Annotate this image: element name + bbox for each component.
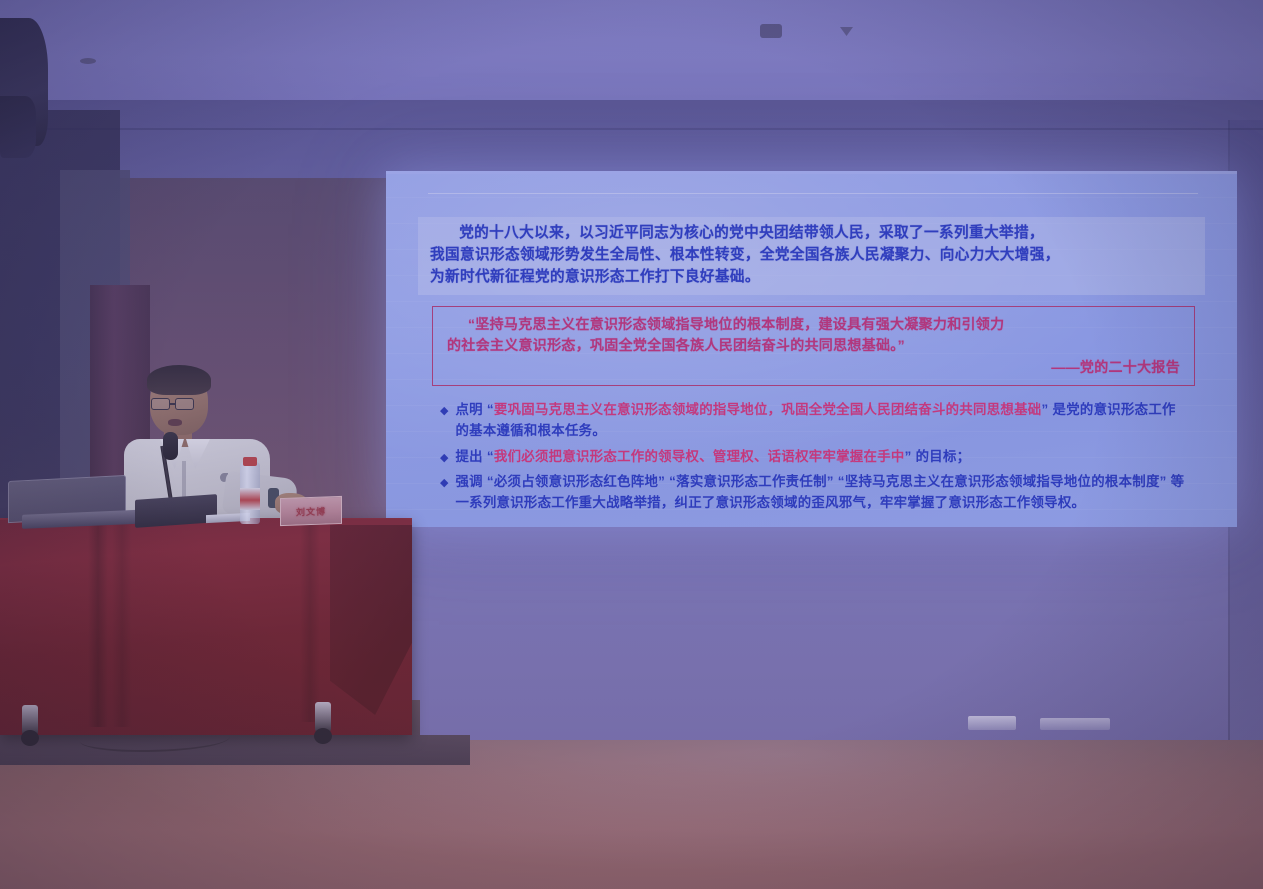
eyeglasses-right-lens-icon [175,398,194,410]
table-caster-wheel-right [314,728,332,744]
diamond-bullet-icon: ◆ [440,450,448,467]
presenter-hair [147,365,211,395]
bullet-item: ◆ 强调 “必须占领意识形态红色阵地” “落实意识形态工作责任制” “坚持马克思… [440,472,1187,514]
bullet-item: ◆ 点明 “要巩固马克思主义在意识形态领域的指导地位，巩固全党全国人民团结奋斗的… [440,400,1187,442]
paragraph-line-2: 我国意识形态领域形势发生全局性、根本性转变，全党全国各族人民凝聚力、向心力大大增… [430,244,1193,266]
projection-screen: 党的十八大以来，以习近平同志为核心的党中央团结带领人民，采取了一系列重大举措， … [386,171,1237,527]
table-caster-wheel-left [21,730,39,746]
water-bottle-label [240,488,260,510]
floor-object-left [968,716,1016,730]
bullet-segment: 提出 “ [455,449,493,464]
presenter-mouth [168,419,182,426]
nameplate: 刘文博 [280,496,342,526]
bullet-text: 点明 “要巩固马克思主义在意识形态领域的指导地位，巩固全党全国人民团结奋斗的共同… [455,400,1187,442]
ceiling-camera-icon [760,24,782,38]
bullet-text: 提出 “我们必须把意识形态工作的领导权、管理权、话语权牢牢掌握在手中” 的目标； [455,447,970,468]
tablet-device[interactable] [135,494,217,528]
slide-paragraph-block: 党的十八大以来，以习近平同志为核心的党中央团结带领人民，采取了一系列重大举措， … [418,217,1205,295]
bullet-segment-highlight: 我们必须把意识形态工作的领导权、管理权、话语权牢牢掌握在手中 [494,449,905,464]
quote-line-2: 的社会主义意识形态，巩固全党全国各族人民团结奋斗的共同思想基础。” [447,335,1180,357]
ceiling-speaker-secondary-icon [0,96,36,158]
bullet-segment: ” 的目标； [905,449,971,464]
bullet-text: 强调 “必须占领意识形态红色阵地” “落实意识形态工作责任制” “坚持马克思主义… [455,472,1187,514]
bullet-segment: 点明 “ [455,402,493,417]
slide-bullet-list: ◆ 点明 “要巩固马克思主义在意识形态领域的指导地位，巩固全党全国人民团结奋斗的… [440,400,1187,514]
bullet-segment-highlight: 要巩固马克思主义在意识形态领域的指导地位，巩固全党全国人民团结奋斗的共同思想基础 [494,402,1042,417]
eyeglasses-left-lens-icon [151,398,170,410]
bullet-item: ◆ 提出 “我们必须把意识形态工作的领导权、管理权、话语权牢牢掌握在手中” 的目… [440,447,1187,468]
slide-content: 党的十八大以来，以习近平同志为核心的党中央团结带领人民，采取了一系列重大举措， … [416,193,1207,514]
bullet-segment: 强调 “必须占领意识形态红色阵地” “落实意识形态工作责任制” “坚持马克思主义… [455,474,1184,510]
cloth-fold [300,522,320,722]
quote-line-1: “坚持马克思主义在意识形态领域指导地位的根本制度，建设具有强大凝聚力和引领力 [447,314,1180,336]
paragraph-line-1: 党的十八大以来，以习近平同志为核心的党中央团结带领人民，采取了一系列重大举措， [430,222,1193,244]
eyeglasses-bridge-icon [170,403,176,405]
water-bottle-cap [243,457,257,466]
microphone-icon [163,432,178,460]
floor-object-right [1040,718,1110,730]
quote-source: ——党的二十大报告 [447,357,1180,379]
diamond-bullet-icon: ◆ [440,403,448,420]
cloth-fold [88,522,108,727]
nameplate-label: 刘文博 [296,504,326,518]
paragraph-line-3: 为新时代新征程党的意识形态工作打下良好基础。 [430,266,1193,288]
stage-riser-edge [0,735,470,765]
ceiling-wall-seam [0,128,1263,130]
screen-bezel [386,171,1237,174]
diamond-bullet-icon: ◆ [440,475,448,492]
ceiling-vent-icon [80,58,96,64]
lecture-hall-scene: 党的十八大以来，以习近平同志为核心的党中央团结带领人民，采取了一系列重大举措， … [0,0,1263,889]
cloth-fold [112,522,132,727]
slide-quote-box: “坚持马克思主义在意识形态领域指导地位的根本制度，建设具有强大凝聚力和引领力 的… [432,306,1195,386]
slide-surface: 党的十八大以来，以习近平同志为核心的党中央团结带领人民，采取了一系列重大举措， … [386,171,1237,527]
